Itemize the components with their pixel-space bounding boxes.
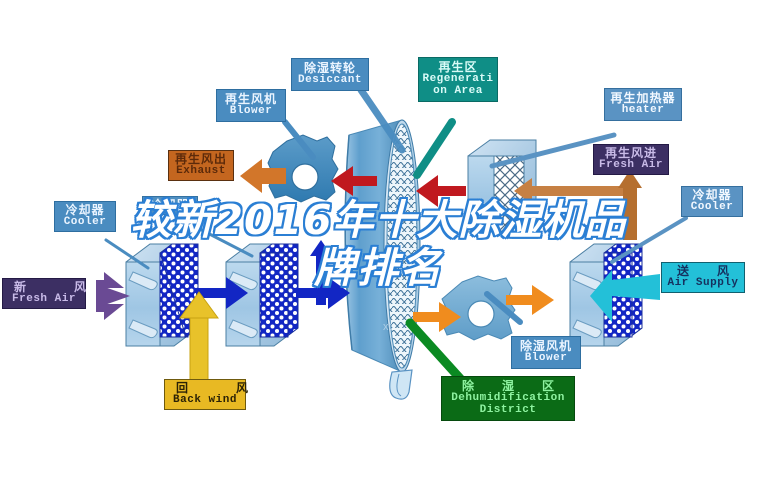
rotor-watermark-text: xt: [383, 321, 392, 333]
regen-air-in-arrow: [514, 178, 630, 204]
label-dehum-blower-cn: 除湿风机: [515, 340, 577, 353]
label-fresh-air-left-en: Fresh Air: [6, 294, 82, 306]
label-back-wind-cn: 回 风: [168, 382, 242, 395]
label-dehum-blower-en: Blower: [515, 353, 577, 365]
label-desiccant-wheel[interactable]: 除湿转轮 Desiccant: [291, 58, 369, 91]
label-back-wind[interactable]: 回 风 Back wind: [164, 379, 246, 410]
label-regen-fresh-air-cn: 再生风进: [597, 147, 665, 160]
label-cooler-left-en: Cooler: [58, 217, 112, 229]
label-regen-heater-cn: 再生加热器: [608, 92, 678, 105]
label-air-supply-en: Air Supply: [665, 278, 741, 290]
label-regen-exhaust-en: Exhaust: [172, 166, 230, 178]
label-regen-blower-cn: 再生风机: [221, 93, 281, 106]
regen-air-up-arrow: [618, 170, 642, 240]
label-air-supply[interactable]: 送 风 Air Supply: [661, 262, 745, 293]
label-cooler-right[interactable]: 冷却器 Cooler: [681, 186, 743, 217]
label-cooler-left-cn: 冷却器: [58, 204, 112, 217]
label-regeneration-area-cn: 再生区: [422, 61, 494, 74]
regen-heat-in-arrow: [416, 175, 466, 207]
label-cooler-right-en: Cooler: [685, 202, 739, 214]
label-fresh-air-left-cn: 新 风: [6, 281, 82, 294]
label-regen-blower-en: Blower: [221, 106, 281, 118]
label-cooler-mid[interactable]: 冷却器: [142, 196, 198, 215]
label-regeneration-area[interactable]: 再生区 Regenerati on Area: [418, 57, 498, 102]
label-cooler-mid-cn: 冷却器: [146, 199, 194, 212]
label-fresh-air-left[interactable]: 新 风 Fresh Air: [2, 278, 86, 309]
diagram-canvas: xt: [0, 0, 757, 488]
label-regen-exhaust[interactable]: 再生风出 Exhaust: [168, 150, 234, 181]
label-back-wind-en: Back wind: [168, 395, 242, 407]
label-dehum-district-en2: District: [446, 405, 570, 417]
desiccant-rotor: xt: [345, 120, 420, 399]
label-dehum-district[interactable]: 除 湿 区 Dehumidification District: [441, 376, 575, 421]
label-regen-blower[interactable]: 再生风机 Blower: [216, 89, 286, 122]
label-regeneration-area-en2: on Area: [422, 86, 494, 98]
dehumidifier-schematic: xt: [0, 0, 757, 488]
label-dehum-blower[interactable]: 除湿风机 Blower: [511, 336, 581, 369]
label-regen-fresh-air[interactable]: 再生风进 Fresh Air: [593, 144, 669, 175]
label-cooler-left[interactable]: 冷却器 Cooler: [54, 201, 116, 232]
label-regen-exhaust-cn: 再生风出: [172, 153, 230, 166]
label-regen-heater[interactable]: 再生加热器 heater: [604, 88, 682, 121]
label-dehum-district-cn: 除 湿 区: [446, 380, 570, 393]
fresh-air-arrow: [96, 272, 130, 320]
label-air-supply-cn: 送 风: [665, 265, 741, 278]
label-desiccant-wheel-en: Desiccant: [296, 75, 364, 87]
label-desiccant-wheel-cn: 除湿转轮: [296, 62, 364, 75]
label-regen-fresh-air-en: Fresh Air: [597, 160, 665, 172]
label-regen-heater-en: heater: [608, 105, 678, 117]
label-cooler-right-cn: 冷却器: [685, 189, 739, 202]
